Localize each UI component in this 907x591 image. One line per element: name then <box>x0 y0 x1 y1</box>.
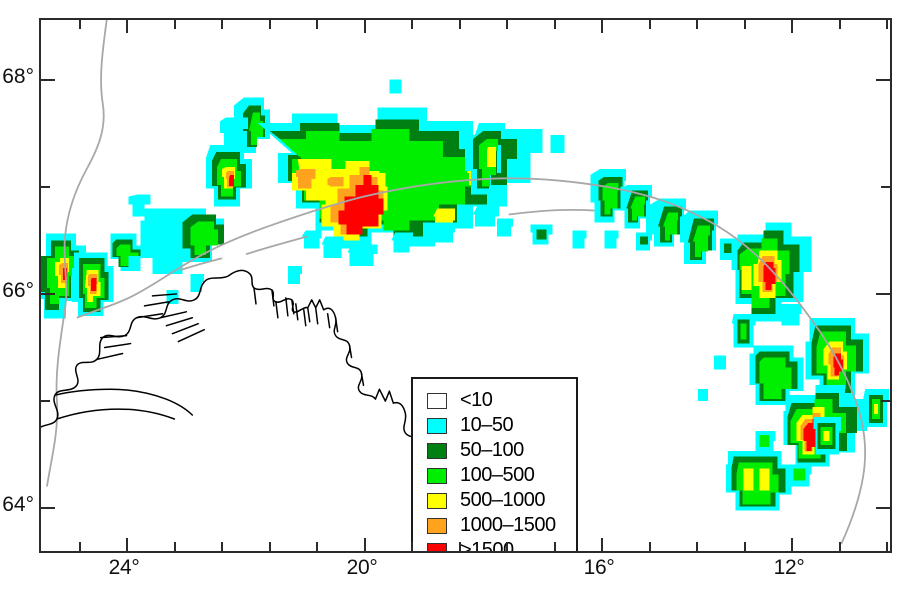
legend-swatch-gt1500 <box>427 543 447 554</box>
y-tick-right <box>876 79 890 81</box>
contour-blob <box>190 274 204 292</box>
legend-swatch-1000-1500 <box>427 518 447 534</box>
y-tick-minor-67 <box>41 186 50 188</box>
x-axis-label-20: 20° <box>347 556 378 580</box>
contour-blob <box>551 135 565 153</box>
y-tick-right <box>876 507 890 509</box>
x-tick-top <box>411 20 413 29</box>
x-tick-minor <box>696 542 698 551</box>
x-tick-top <box>221 20 223 29</box>
x-tick-minor <box>269 542 271 551</box>
x-tick-minor <box>174 542 176 551</box>
x-tick-minor <box>79 542 81 551</box>
contour-blob <box>348 244 378 266</box>
y-tick-minor-65 <box>41 400 50 402</box>
x-tick-minor <box>744 542 746 551</box>
contour-blob <box>497 219 513 237</box>
contour-blob <box>782 304 802 326</box>
x-tick-top <box>174 20 176 29</box>
legend-label: <10 <box>460 389 492 412</box>
contour-blob <box>391 232 413 252</box>
legend-item: 500–1000 <box>427 488 576 513</box>
contour-blob <box>322 236 344 258</box>
x-tick-minor <box>221 542 223 551</box>
x-axis-label-24: 24° <box>109 556 140 580</box>
contour-blob <box>813 417 841 455</box>
x-tick-minor <box>316 542 318 551</box>
x-tick-major-12 <box>791 538 793 551</box>
y-tick-right <box>881 186 890 188</box>
y-tick-major-64 <box>41 507 55 509</box>
map-plot-area: <10 10–50 50–100 100–500 500–1000 1000–1… <box>39 18 892 553</box>
y-tick-right <box>881 400 890 402</box>
y-axis-label-66: 66° <box>0 279 34 303</box>
x-tick-minor <box>459 542 461 551</box>
legend-swatch-100-500 <box>427 468 447 484</box>
y-axis-label-64: 64° <box>0 493 34 517</box>
x-axis-label-12: 12° <box>774 556 805 580</box>
figure-root: <10 10–50 50–100 100–500 500–1000 1000–1… <box>0 0 907 591</box>
x-tick-top <box>886 20 888 29</box>
contour-blob <box>302 230 322 248</box>
x-tick-top <box>506 20 508 29</box>
contour-blob <box>141 209 225 275</box>
legend-swatch-lt10 <box>427 393 447 409</box>
contour-blob <box>389 80 401 94</box>
legend-swatch-500-1000 <box>427 493 447 509</box>
legend-label: 100–500 <box>460 464 534 487</box>
legend-item: 50–100 <box>427 438 576 463</box>
x-tick-minor <box>649 542 651 551</box>
contour-blob <box>431 222 455 242</box>
x-tick-top <box>126 20 128 33</box>
contour-blob <box>714 355 726 369</box>
legend-item: 100–500 <box>427 463 576 488</box>
y-tick-major-68 <box>41 79 55 81</box>
x-tick-top <box>269 20 271 29</box>
contour-blob <box>726 451 792 511</box>
legend-label: 50–100 <box>460 439 524 462</box>
x-tick-minor <box>839 542 841 551</box>
legend-label: 1000–1500 <box>460 514 556 537</box>
x-tick-major-20 <box>364 538 366 551</box>
y-tick-right <box>876 293 890 295</box>
x-tick-top <box>791 20 793 33</box>
y-tick-major-66 <box>41 293 55 295</box>
legend-item: 1000–1500 <box>427 513 576 538</box>
x-tick-top <box>459 20 461 29</box>
contour-blob <box>288 266 302 284</box>
x-tick-top <box>79 20 81 29</box>
y-axis-label-68: 68° <box>0 65 34 89</box>
x-tick-minor <box>554 542 556 551</box>
legend-label: 10–50 <box>460 414 513 437</box>
legend-item: <10 <box>427 388 576 413</box>
contour-blob <box>206 145 252 207</box>
x-tick-top <box>649 20 651 29</box>
x-tick-minor <box>506 542 508 551</box>
legend-swatch-50-100 <box>427 443 447 459</box>
contour-blob <box>572 230 586 248</box>
contour-blob <box>604 230 618 248</box>
x-tick-minor <box>411 542 413 551</box>
legend-label: 500–1000 <box>460 489 545 512</box>
x-tick-top <box>364 20 366 33</box>
legend-swatch-10-50 <box>427 418 447 434</box>
contour-blob <box>473 207 499 227</box>
legend-item: 10–50 <box>427 413 576 438</box>
x-tick-top <box>316 20 318 29</box>
contour-blob <box>698 389 708 401</box>
x-tick-top <box>839 20 841 29</box>
contour-blob <box>129 256 141 268</box>
x-tick-major-16 <box>601 538 603 551</box>
x-tick-top <box>554 20 556 29</box>
x-tick-minor <box>886 542 888 551</box>
x-axis-label-16: 16° <box>584 556 615 580</box>
legend-box: <10 10–50 50–100 100–500 500–1000 1000–1… <box>411 377 578 553</box>
x-tick-top <box>744 20 746 29</box>
x-tick-major-24 <box>126 538 128 551</box>
x-tick-top <box>601 20 603 33</box>
contour-blob <box>680 211 718 265</box>
x-tick-top <box>696 20 698 29</box>
